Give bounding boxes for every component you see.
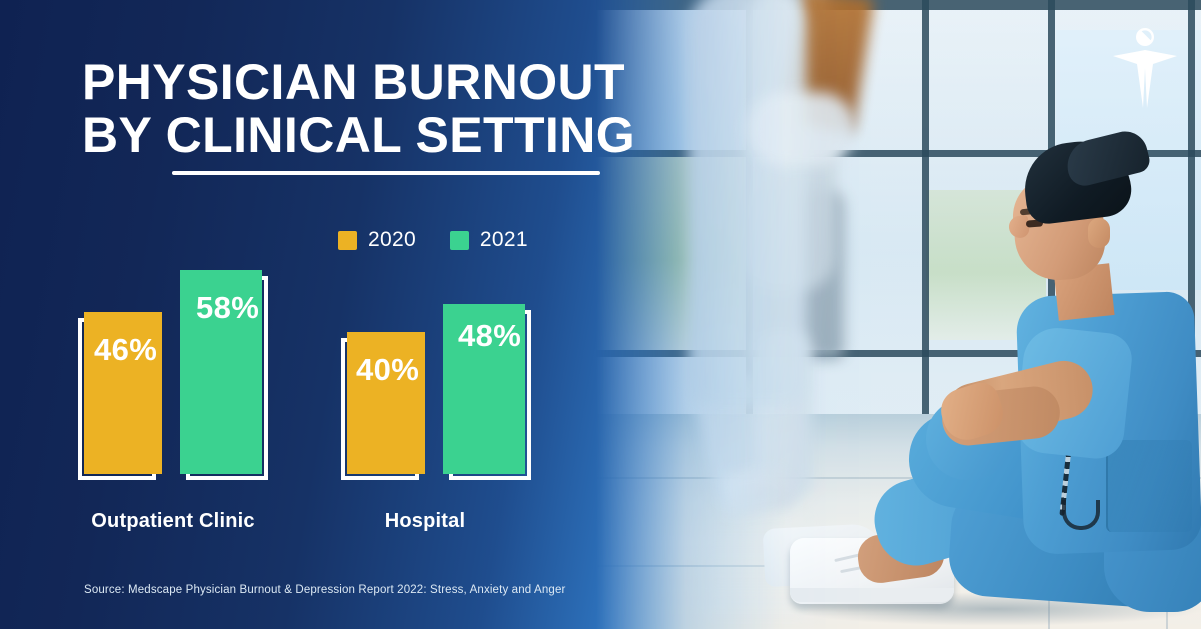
source-citation: Source: Medscape Physician Burnout & Dep…	[84, 584, 565, 596]
group-label-outpatient: Outpatient Clinic	[56, 510, 290, 533]
walking-clinician-arm	[746, 92, 856, 166]
shoe-sole	[790, 588, 954, 602]
bar-value-label: 58%	[196, 290, 259, 326]
infographic-canvas: PHYSICIAN BURNOUT BY CLINICAL SETTING 20…	[0, 0, 1201, 629]
caduceus-figure-logo	[1113, 22, 1177, 108]
bar-value-label: 40%	[356, 352, 419, 388]
bar-value-label: 48%	[458, 318, 521, 354]
group-label-hospital: Hospital	[325, 510, 525, 533]
scrub-pocket	[1106, 440, 1192, 532]
walking-clinician-labcoat	[688, 0, 806, 406]
physician-ear	[1088, 218, 1110, 248]
bar-value-label: 46%	[94, 332, 157, 368]
window-mullion	[596, 0, 1201, 10]
seated-physician	[916, 140, 1201, 610]
bar-chart: 46% 58% Outpatient Clinic 40% 48% Hospit…	[0, 0, 560, 629]
